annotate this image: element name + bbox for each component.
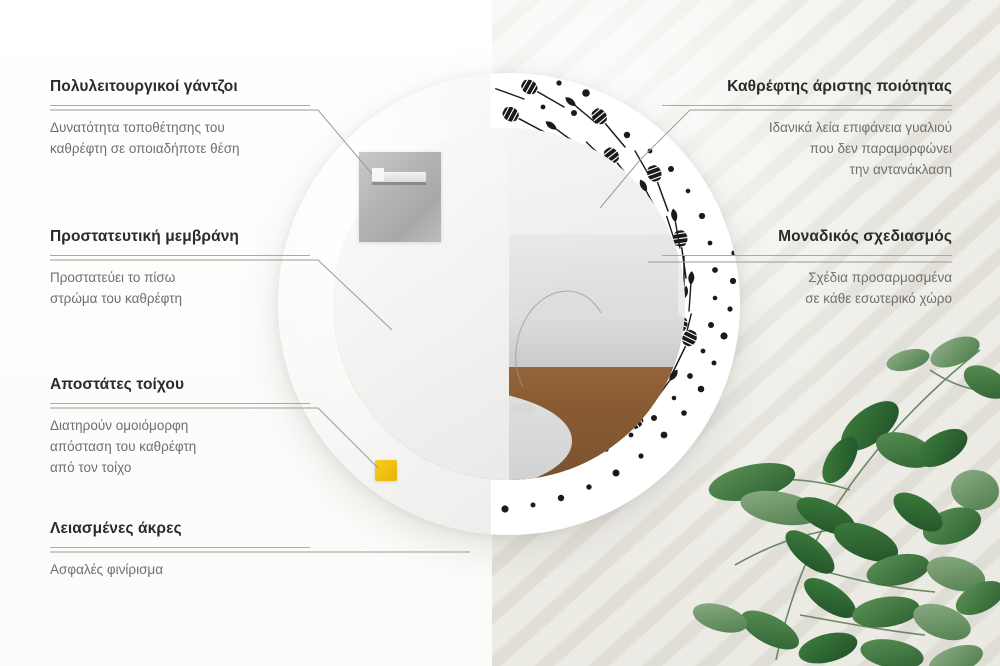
callout-heading: Λειασμένες άκρες <box>50 520 310 538</box>
callout-heading: Καθρέφτης άριστης ποιότητας <box>662 78 952 96</box>
callout-rule <box>50 547 310 548</box>
infographic-stage: Πολυλειτουργικοί γάντζοι Δυνατότητα τοπο… <box>0 0 1000 666</box>
callout-top-quality-mirror: Καθρέφτης άριστης ποιότητας Ιδανικά λεία… <box>662 78 952 180</box>
callout-polished-edges: Λειασμένες άκρες Ασφαλές φινίρισμα <box>50 520 310 580</box>
callout-description: Δυνατότητα τοποθέτησης του καθρέφτη σε ο… <box>50 117 310 159</box>
callout-heading: Προστατευτική μεμβράνη <box>50 228 310 246</box>
callout-rule <box>662 105 952 106</box>
callout-wall-spacers: Αποστάτες τοίχου Διατηρούν ομοιόμορφη απ… <box>50 376 310 478</box>
callout-description: Ιδανικά λεία επιφάνεια γυαλιού που δεν π… <box>662 117 952 180</box>
callout-multifunctional-hooks: Πολυλειτουργικοί γάντζοι Δυνατότητα τοπο… <box>50 78 310 159</box>
callout-description: Σχέδια προσαρμοσμένα σε κάθε εσωτερικό χ… <box>662 267 952 309</box>
callout-description: Διατηρούν ομοιόμορφη απόσταση του καθρέφ… <box>50 415 310 478</box>
hook-shadow <box>372 182 426 186</box>
callout-rule <box>50 403 310 404</box>
hook-detail-inset <box>359 152 441 242</box>
callout-unique-design: Μοναδικός σχεδιασμός Σχέδια προσαρμοσμέν… <box>662 228 952 309</box>
hook-tab-icon <box>372 168 383 181</box>
callout-heading: Πολυλειτουργικοί γάντζοι <box>50 78 310 96</box>
callout-heading: Αποστάτες τοίχου <box>50 376 310 394</box>
callout-heading: Μοναδικός σχεδιασμός <box>662 228 952 246</box>
callout-rule <box>662 255 952 256</box>
callout-protective-membrane: Προστατευτική μεμβράνη Προστατεύει το πί… <box>50 228 310 309</box>
callout-rule <box>50 255 310 256</box>
callout-rule <box>50 105 310 106</box>
callout-description: Ασφαλές φινίρισμα <box>50 559 310 580</box>
wall-spacer-marker <box>375 460 397 481</box>
callout-description: Προστατεύει το πίσω στρώμα του καθρέφτη <box>50 267 310 309</box>
